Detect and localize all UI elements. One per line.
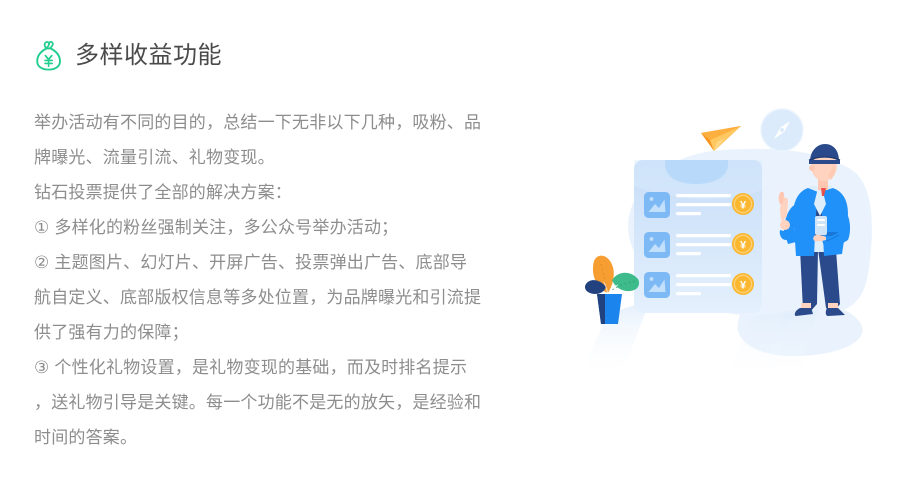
svg-text:¥: ¥ [740,240,747,252]
text-line [676,283,731,286]
image-chart-thumb [644,232,670,258]
rewards-card: ¥ ¥ [634,160,762,313]
body-line: 举办活动有不同的目的，总结一下无非以下几种，吸粉、品 [34,105,534,140]
body-line: ① 多样化的粉丝强制关注，多公众号举办活动； [34,210,534,245]
text-line [676,212,701,215]
money-bag-icon [34,40,64,72]
svg-text:¥: ¥ [740,200,747,212]
image-chart-thumb [644,272,670,298]
body-line: 航自定义、底部版权信息等多处位置，为品牌曝光和引流提 [34,280,534,315]
body-line: 钻石投票提供了全部的解决方案： [34,175,534,210]
yen-coin: ¥ [732,273,754,295]
text-line [676,252,701,255]
section-heading: 多样收益功能 [34,36,534,76]
paper-plane-icon [701,126,741,151]
text-line [676,203,731,206]
body-line: 牌曝光、流量引流、礼物变现。 [34,140,534,175]
compass-icon [761,109,803,151]
image-chart-thumb [644,192,670,218]
body-line: ③ 个性化礼物设置，是礼物变现的基础，而及时排名提示 [34,350,534,385]
body-line: ② 主题图片、幻灯片、开屏广告、投票弹出广告、底部导 [34,245,534,280]
page-title: 多样收益功能 [75,44,222,68]
text-line [676,274,731,277]
content-column: 多样收益功能 举办活动有不同的目的，总结一下无非以下几种，吸粉、品 牌曝光、流量… [34,36,534,455]
rewards-illustration: ¥ ¥ [556,104,900,404]
text-line [676,234,731,237]
text-line [676,194,731,197]
text-line [676,292,701,295]
body-text: 举办活动有不同的目的，总结一下无非以下几种，吸粉、品 牌曝光、流量引流、礼物变现… [34,105,534,455]
page-root: 多样收益功能 举办活动有不同的目的，总结一下无非以下几种，吸粉、品 牌曝光、流量… [0,0,900,489]
body-line: 时间的答案。 [34,420,534,455]
body-line: 供了强有力的保障； [34,315,534,350]
text-line [676,243,731,246]
svg-text:¥: ¥ [740,280,747,292]
yen-coin: ¥ [732,193,754,215]
yen-coin: ¥ [732,233,754,255]
body-line: ，送礼物引导是关键。每一个功能不是无的放矢，是经验和 [34,385,534,420]
